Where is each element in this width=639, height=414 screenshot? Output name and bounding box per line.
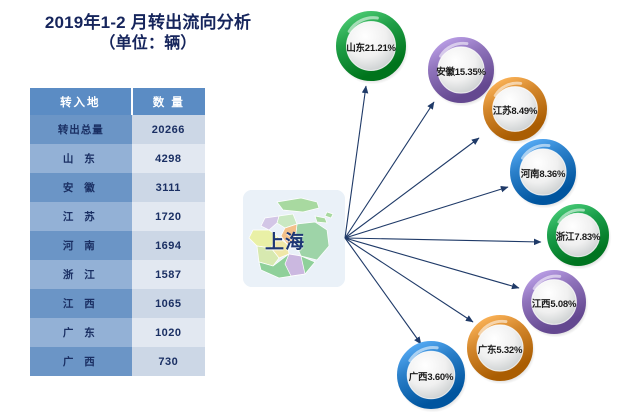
arrow-to-jiangsu xyxy=(345,138,479,238)
arrow-to-zhejiang xyxy=(345,238,541,242)
ring-chart-label-0: 山东21.21% xyxy=(333,40,409,54)
table-row: 河 南1694 xyxy=(30,231,205,260)
table-cell-quantity: 20266 xyxy=(132,115,205,144)
table-row: 浙 江1587 xyxy=(30,260,205,289)
ring-chart-0: 山东21.21% xyxy=(333,8,409,84)
table-cell-region: 浙 江 xyxy=(30,260,132,289)
ring-chart-label-3: 河南8.36% xyxy=(507,166,579,180)
table-row: 转出总量20266 xyxy=(30,115,205,144)
arrow-to-henan xyxy=(345,187,508,238)
table-cell-quantity: 1020 xyxy=(132,318,205,347)
ring-chart-label-5: 江西5.08% xyxy=(519,296,589,310)
arrow-to-jiangxi xyxy=(345,238,519,288)
ring-chart-label-7: 广西3.60% xyxy=(394,369,468,383)
table-cell-region: 广 东 xyxy=(30,318,132,347)
table-header-quantity: 数 量 xyxy=(132,88,205,115)
arrow-to-guangxi xyxy=(345,238,421,344)
table-cell-quantity: 4298 xyxy=(132,144,205,173)
arrow-to-shandong xyxy=(345,86,366,238)
table-cell-quantity: 3111 xyxy=(132,173,205,202)
ring-chart-4: 浙江7.83% xyxy=(544,201,612,269)
ring-chart-label-4: 浙江7.83% xyxy=(544,229,612,243)
map-city-label: 上海 xyxy=(265,227,305,254)
table-cell-region: 江 苏 xyxy=(30,202,132,231)
table-cell-region: 安 徽 xyxy=(30,173,132,202)
table-row: 江 西1065 xyxy=(30,289,205,318)
table-cell-region: 山 东 xyxy=(30,144,132,173)
arrow-to-anhui xyxy=(345,102,434,238)
arrow-to-guangdong xyxy=(345,238,473,322)
table-row: 山 东4298 xyxy=(30,144,205,173)
table-cell-region: 转出总量 xyxy=(30,115,132,144)
transfer-data-table: 转入地 数 量 转出总量20266山 东4298安 徽3111江 苏1720河 … xyxy=(30,88,205,376)
ring-chart-label-2: 江苏8.49% xyxy=(480,103,550,117)
table-cell-quantity: 1694 xyxy=(132,231,205,260)
table-row: 江 苏1720 xyxy=(30,202,205,231)
page-title: 2019年1-2 月转出流向分析 （单位：辆） xyxy=(8,12,288,54)
table-cell-quantity: 1065 xyxy=(132,289,205,318)
table-cell-region: 河 南 xyxy=(30,231,132,260)
table-cell-region: 广 西 xyxy=(30,347,132,376)
table-cell-quantity: 1587 xyxy=(132,260,205,289)
table-cell-quantity: 1720 xyxy=(132,202,205,231)
ring-chart-7: 广西3.60% xyxy=(394,338,468,412)
table-row: 广 东1020 xyxy=(30,318,205,347)
table-row: 安 徽3111 xyxy=(30,173,205,202)
ring-chart-label-6: 广东5.32% xyxy=(464,342,536,356)
page-title-line-2: （单位：辆） xyxy=(8,34,288,54)
table-header-row: 转入地 数 量 xyxy=(30,88,205,115)
page-title-line-1: 2019年1-2 月转出流向分析 xyxy=(8,12,288,34)
ring-chart-6: 广东5.32% xyxy=(464,312,536,384)
table-row: 广 西730 xyxy=(30,347,205,376)
table-cell-quantity: 730 xyxy=(132,347,205,376)
table-cell-region: 江 西 xyxy=(30,289,132,318)
table-header-region: 转入地 xyxy=(30,88,132,115)
ring-chart-2: 江苏8.49% xyxy=(480,74,550,144)
ring-chart-3: 河南8.36% xyxy=(507,136,579,208)
